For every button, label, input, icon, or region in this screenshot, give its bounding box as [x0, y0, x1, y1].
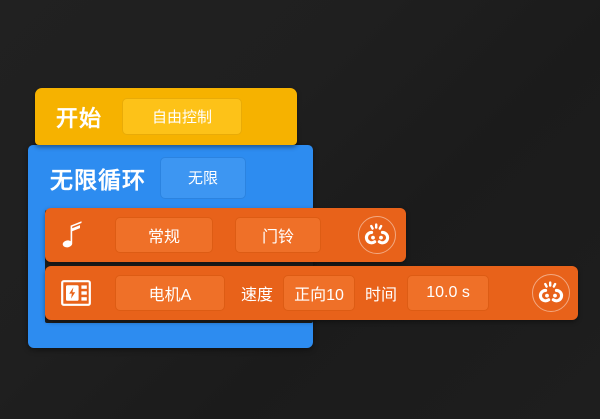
sound-mode-field[interactable]: 常规 [115, 217, 213, 253]
music-note-icon [61, 219, 87, 251]
eyes-icon[interactable] [358, 216, 396, 254]
motor-speed-label: 速度 [241, 281, 273, 305]
block-editor-canvas: 无限循环 无限 开始 自由控制 常规 门铃 [0, 0, 600, 419]
motor-speed-field[interactable]: 正向10 [283, 275, 355, 311]
eyes-icon[interactable] [532, 274, 570, 312]
forever-loop-count-field[interactable]: 无限 [160, 157, 246, 199]
motor-time-label: 时间 [365, 281, 397, 305]
forever-loop-title: 无限循环 [50, 161, 146, 195]
forever-loop-header: 无限循环 无限 [28, 145, 313, 210]
motor-icon [61, 280, 91, 306]
block-motor-run[interactable]: 电机A 速度 正向10 时间 10.0 s [45, 266, 578, 320]
motor-time-field[interactable]: 10.0 s [407, 275, 489, 311]
block-play-sound[interactable]: 常规 门铃 [45, 208, 406, 262]
start-mode-field[interactable]: 自由控制 [122, 98, 242, 135]
motor-port-field[interactable]: 电机A [115, 275, 225, 311]
sound-name-field[interactable]: 门铃 [235, 217, 321, 253]
block-start[interactable]: 开始 自由控制 [35, 88, 297, 145]
start-block-title: 开始 [56, 101, 102, 133]
